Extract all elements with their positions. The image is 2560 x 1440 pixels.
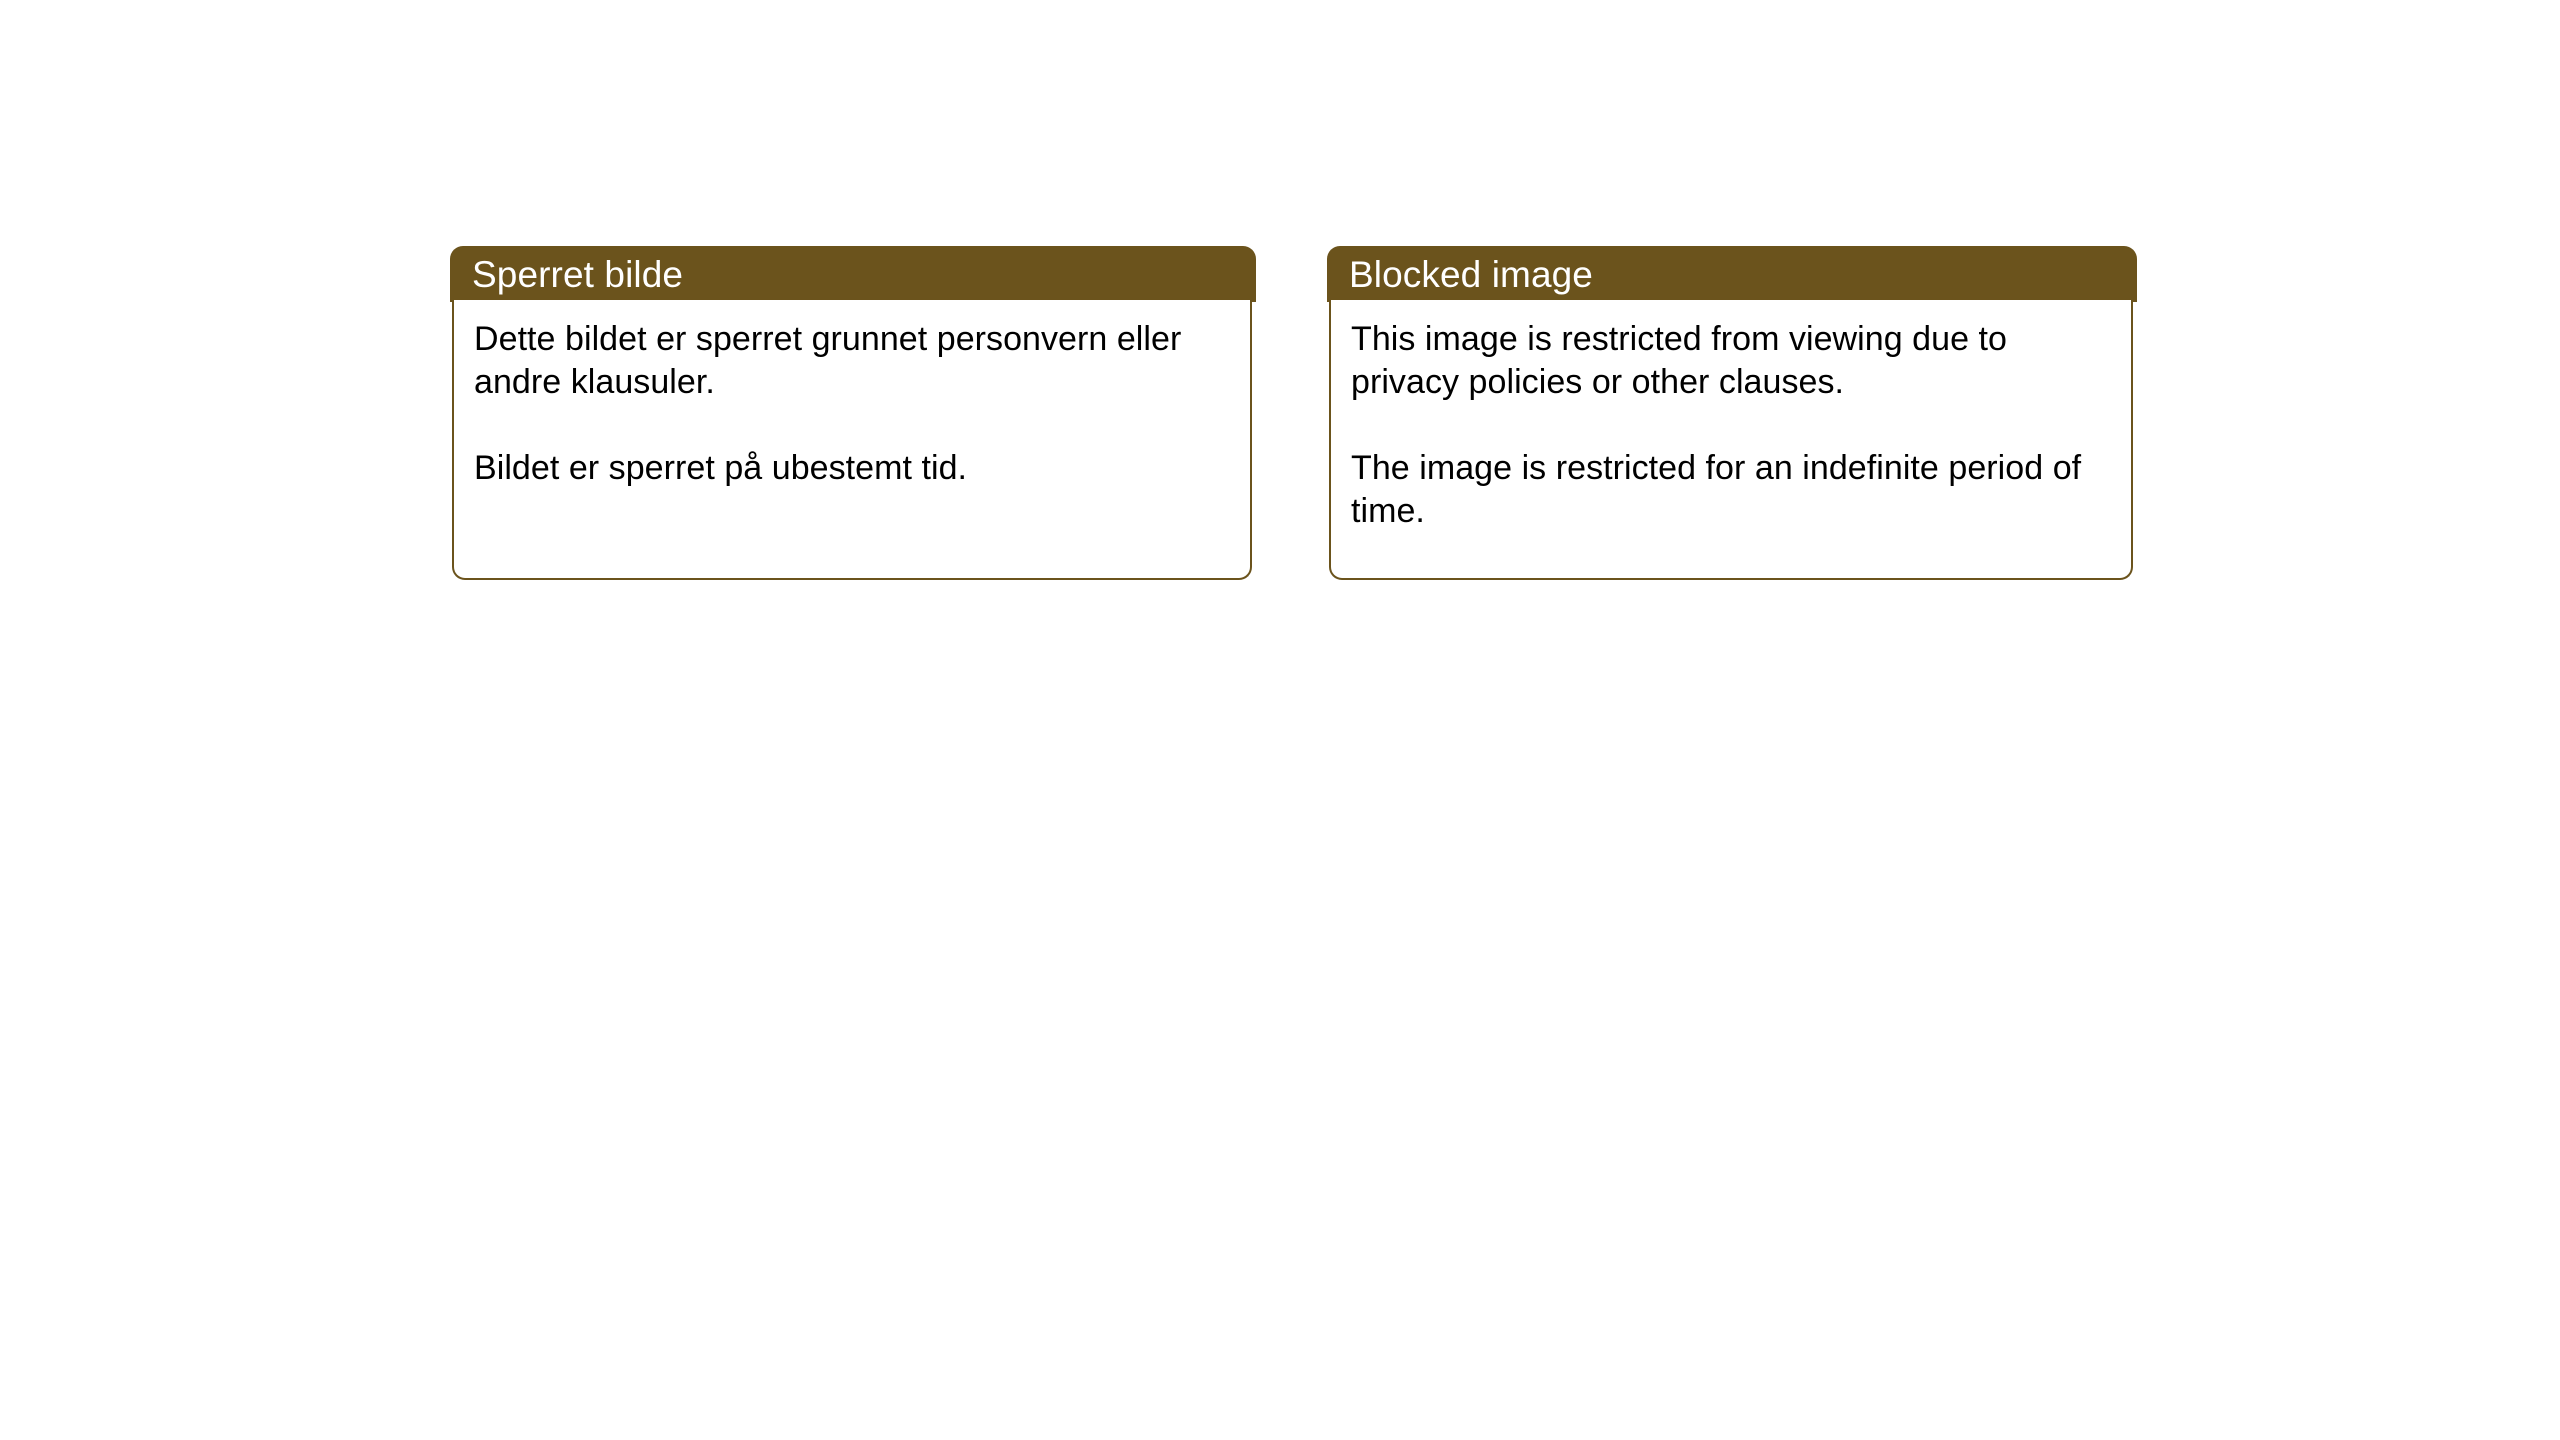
paragraph-spacer-en: [1351, 404, 2109, 447]
blocked-image-notice-card-no: Sperret bilde Dette bildet er sperret gr…: [450, 246, 1256, 580]
card-paragraph-primary-en: This image is restricted from viewing du…: [1351, 318, 2109, 404]
card-header-no: Sperret bilde: [450, 246, 1256, 302]
card-header-en: Blocked image: [1327, 246, 2137, 302]
card-title-en: Blocked image: [1327, 253, 1593, 296]
card-title-no: Sperret bilde: [450, 253, 683, 296]
blocked-image-notice-card-en: Blocked image This image is restricted f…: [1327, 246, 2137, 580]
card-body-en: This image is restricted from viewing du…: [1329, 300, 2133, 580]
paragraph-spacer-no: [474, 404, 1228, 447]
page-canvas: Sperret bilde Dette bildet er sperret gr…: [0, 0, 2560, 1440]
card-paragraph-primary-no: Dette bildet er sperret grunnet personve…: [474, 318, 1228, 404]
card-paragraph-secondary-no: Bildet er sperret på ubestemt tid.: [474, 447, 1228, 490]
card-paragraph-secondary-en: The image is restricted for an indefinit…: [1351, 447, 2109, 533]
card-body-no: Dette bildet er sperret grunnet personve…: [452, 300, 1252, 580]
